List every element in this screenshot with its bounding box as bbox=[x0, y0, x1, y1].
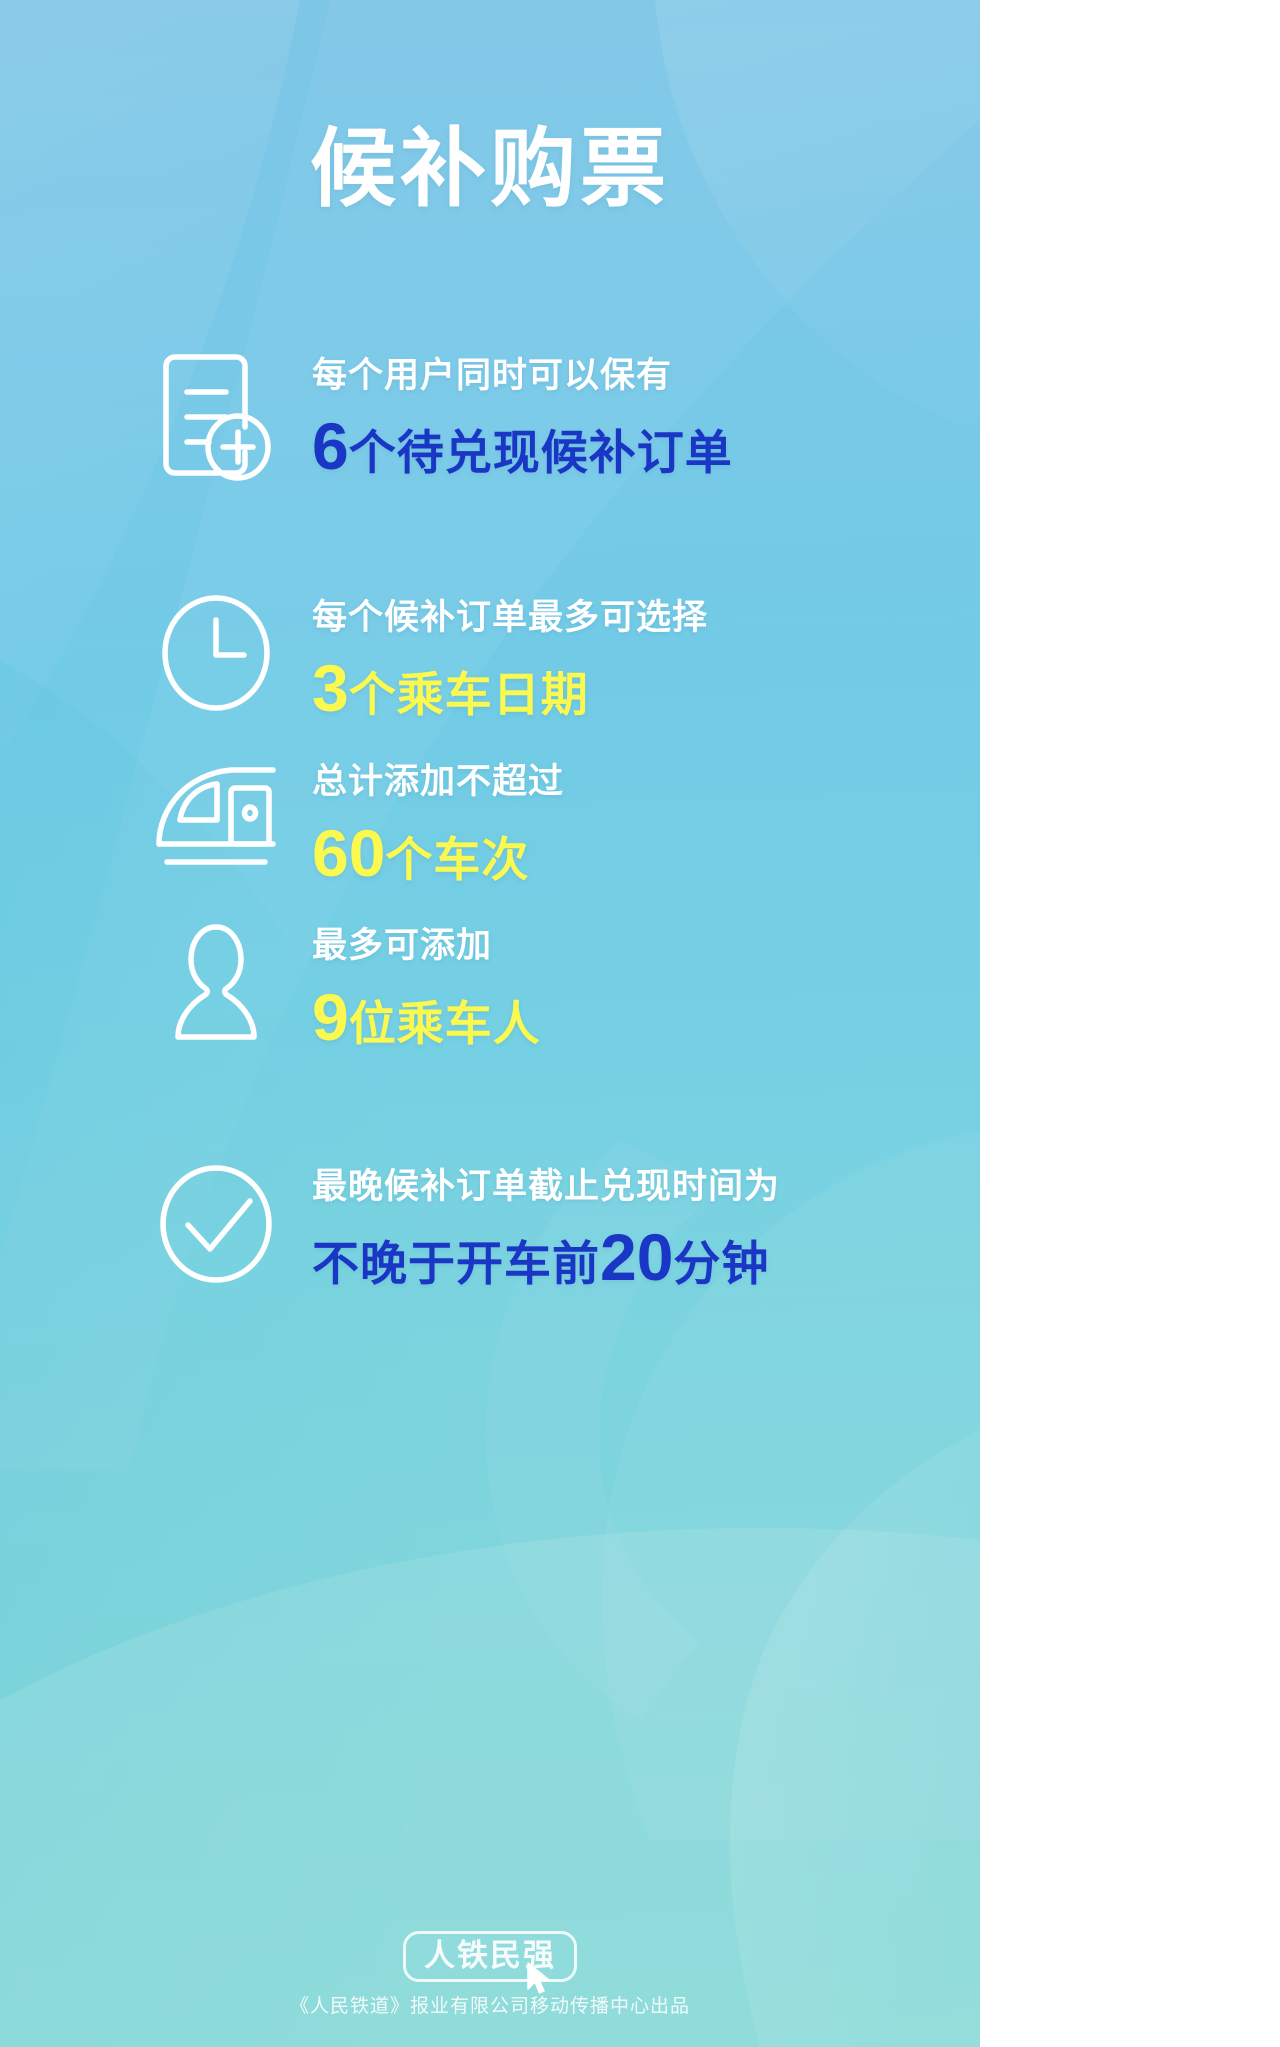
page-title: 候补购票 bbox=[0, 126, 980, 212]
fact-row-trains: 总计添加不超过 60个车次 bbox=[0, 758, 980, 890]
fact-suffix: 个乘车日期 bbox=[349, 668, 589, 721]
fact-suffix: 位乘车人 bbox=[349, 997, 541, 1050]
fact-number: 3 bbox=[312, 651, 349, 725]
fact-highlight: 9位乘车人 bbox=[312, 981, 980, 1055]
footer: 人铁民强 《人民铁道》报业有限公司移动传播中心出品 bbox=[0, 1931, 980, 2019]
fact-prefix: 不晚于开车前 bbox=[312, 1237, 600, 1290]
fact-highlight: 6个待兑现候补订单 bbox=[312, 410, 980, 484]
fact-highlight: 3个乘车日期 bbox=[312, 652, 980, 726]
fact-number: 60 bbox=[312, 816, 385, 890]
check-circle-icon bbox=[150, 1163, 282, 1285]
fact-text: 每个候补订单最多可选择 3个乘车日期 bbox=[282, 594, 980, 726]
clock-icon bbox=[150, 594, 282, 712]
fact-text: 每个用户同时可以保有 6个待兑现候补订单 bbox=[282, 352, 980, 484]
train-icon bbox=[150, 758, 282, 870]
person-icon bbox=[150, 922, 282, 1044]
fact-highlight: 60个车次 bbox=[312, 817, 980, 891]
fact-row-passengers: 最多可添加 9位乘车人 bbox=[0, 922, 980, 1054]
infographic-poster: 候补购票 每个用户同时可以保有 6个待兑现候补订单 bbox=[0, 0, 980, 2047]
fact-suffix: 分钟 bbox=[673, 1237, 769, 1290]
document-plus-icon bbox=[150, 352, 282, 482]
credit-text: 《人民铁道》报业有限公司移动传播中心出品 bbox=[0, 1996, 980, 2019]
fact-lead: 每个候补订单最多可选择 bbox=[312, 598, 980, 638]
cursor-pointer-icon bbox=[525, 1962, 553, 1996]
fact-suffix: 个车次 bbox=[385, 833, 529, 886]
fact-lead: 最多可添加 bbox=[312, 926, 980, 966]
fact-suffix: 个待兑现候补订单 bbox=[349, 426, 733, 479]
fact-number: 9 bbox=[312, 980, 349, 1054]
fact-highlight: 不晚于开车前20分钟 bbox=[312, 1221, 980, 1295]
fact-row-dates: 每个候补订单最多可选择 3个乘车日期 bbox=[0, 594, 980, 726]
fact-row-deadline: 最晚候补订单截止兑现时间为 不晚于开车前20分钟 bbox=[0, 1163, 980, 1295]
fact-number: 6 bbox=[312, 409, 349, 483]
fact-number: 20 bbox=[600, 1220, 673, 1294]
fact-lead: 总计添加不超过 bbox=[312, 762, 980, 802]
fact-lead: 最晚候补订单截止兑现时间为 bbox=[312, 1167, 980, 1207]
brand-logo: 人铁民强 bbox=[403, 1931, 577, 1982]
fact-text: 最晚候补订单截止兑现时间为 不晚于开车前20分钟 bbox=[282, 1163, 980, 1295]
fact-row-orders: 每个用户同时可以保有 6个待兑现候补订单 bbox=[0, 352, 980, 484]
fact-text: 最多可添加 9位乘车人 bbox=[282, 922, 980, 1054]
fact-lead: 每个用户同时可以保有 bbox=[312, 356, 980, 396]
content-rows: 每个用户同时可以保有 6个待兑现候补订单 每个候补订单最多可选择 3个乘车日期 bbox=[0, 352, 980, 1295]
fact-text: 总计添加不超过 60个车次 bbox=[282, 758, 980, 890]
